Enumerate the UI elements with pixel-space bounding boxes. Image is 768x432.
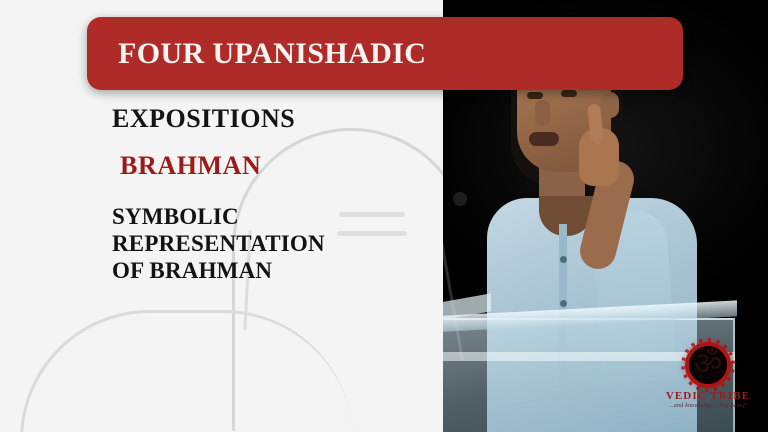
subheading-line-2: REPRESENTATION xyxy=(112,230,432,257)
om-glyph: ॐ xyxy=(685,349,731,380)
heading-block: EXPOSITIONS BRAHMAN SYMBOLIC REPRESENTAT… xyxy=(112,104,432,284)
banner-title-text: FOUR UPANISHADIC xyxy=(118,37,426,71)
speaker-nose xyxy=(535,100,550,126)
kurta-button-lower xyxy=(560,300,567,307)
slide-canvas: FOUR UPANISHADIC EXPOSITIONS BRAHMAN SYM… xyxy=(0,0,768,432)
speaker-eye-right xyxy=(561,90,577,97)
heading-expositions: EXPOSITIONS xyxy=(112,104,432,133)
speaker-mouth xyxy=(529,132,559,146)
vedic-tribe-logo: ॐ VEDIC TRIBE ...and knowledge... Not be… xyxy=(656,342,760,426)
speaker-ear xyxy=(601,92,619,118)
kurta-button-upper xyxy=(560,256,567,263)
microphone-head-icon xyxy=(453,192,467,206)
subheading-block: SYMBOLIC REPRESENTATION OF BRAHMAN xyxy=(112,203,432,284)
speaker-eye-left xyxy=(527,92,543,99)
subheading-line-1: SYMBOLIC xyxy=(112,203,432,230)
logo-tagline: ...and knowledge... Not belief! xyxy=(656,403,760,409)
om-icon: ॐ xyxy=(685,342,731,388)
heading-brahman: BRAHMAN xyxy=(120,151,432,181)
subheading-line-3: OF BRAHMAN xyxy=(112,257,432,284)
title-banner: FOUR UPANISHADIC xyxy=(87,17,683,90)
om-watermark-sweep xyxy=(20,310,353,432)
